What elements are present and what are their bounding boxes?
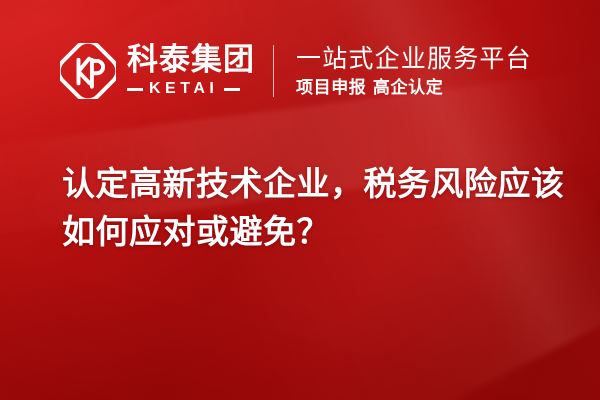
logo-latin-name: KETAI [149, 81, 218, 97]
headline-line-1: 认定高新技术企业，税务风险应该 [62, 160, 562, 208]
tagline-secondary: 项目申报 高企认定 [296, 79, 532, 98]
ketai-diamond-kp-monogram-icon [60, 43, 116, 99]
brand-tagline: 一站式企业服务平台 项目申报 高企认定 [296, 45, 532, 98]
promo-banner: 科泰集团 KETAI 一站式企业服务平台 项目申报 高企认定 认定高新技术企业，… [0, 0, 600, 400]
logo-wordmark: 科泰集团 KETAI [127, 45, 255, 97]
headline-line-2: 如何应对或避免？ [62, 208, 562, 256]
logo-dash-right-icon [224, 88, 240, 91]
brand-logo[interactable]: 科泰集团 KETAI [60, 43, 255, 99]
header-divider [273, 45, 274, 97]
banner-header: 科泰集团 KETAI 一站式企业服务平台 项目申报 高企认定 [60, 36, 532, 106]
tagline-primary: 一站式企业服务平台 [296, 45, 532, 72]
page-title: 认定高新技术企业，税务风险应该 如何应对或避免？ [62, 160, 562, 256]
logo-chinese-name: 科泰集团 [127, 45, 255, 76]
logo-dash-left-icon [127, 88, 143, 91]
logo-latin-row: KETAI [127, 81, 255, 97]
